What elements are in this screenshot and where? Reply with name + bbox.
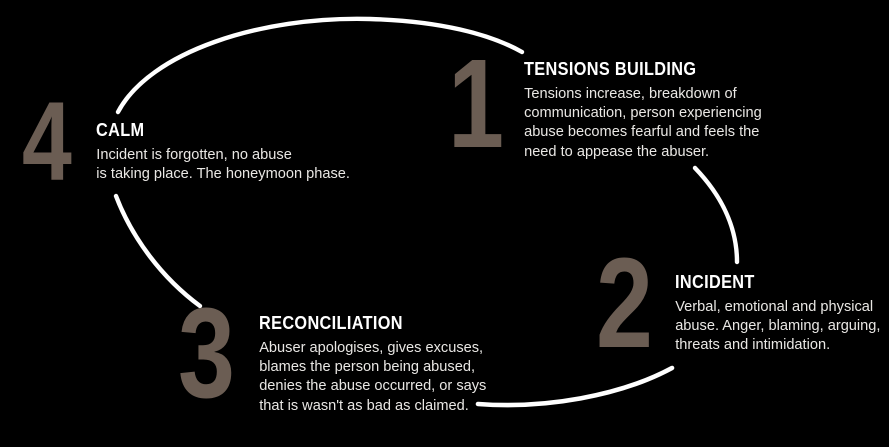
stage-body-incident: Verbal, emotional and physical abuse. An…: [675, 298, 880, 356]
stage-title-calm: CALM: [96, 121, 319, 140]
stage-incident: 2 INCIDENT Verbal, emotional and physica…: [596, 252, 880, 357]
stage-title-incident: INCIDENT: [675, 273, 856, 292]
stage-text-1: TENSIONS BUILDING Tensions increase, bre…: [524, 52, 762, 162]
stage-body-reconciliation: Abuser apologises, gives excuses, blames…: [259, 339, 486, 417]
stage-text-4: CALM Incident is forgotten, no abuse is …: [96, 96, 350, 184]
stage-text-2: INCIDENT Verbal, emotional and physical …: [675, 252, 880, 356]
stage-number-4: 4: [22, 96, 70, 188]
cycle-of-abuse-diagram: 1 TENSIONS BUILDING Tensions increase, b…: [0, 0, 889, 447]
stage-number-1: 1: [448, 52, 502, 155]
stage-body-calm: Incident is forgotten, no abuse is takin…: [96, 146, 350, 185]
stage-number-2: 2: [596, 252, 651, 357]
stage-body-tensions-building: Tensions increase, breakdown of communic…: [524, 85, 762, 163]
stage-reconciliation: 3 RECONCILIATION Abuser apologises, give…: [178, 302, 486, 416]
stage-number-3: 3: [178, 302, 233, 407]
stage-title-reconciliation: RECONCILIATION: [259, 314, 459, 333]
stage-tensions-building: 1 TENSIONS BUILDING Tensions increase, b…: [448, 52, 762, 162]
arc-1-to-2: [695, 168, 737, 262]
stage-calm: 4 CALM Incident is forgotten, no abuse i…: [22, 96, 350, 188]
stage-title-tensions-building: TENSIONS BUILDING: [524, 60, 733, 79]
stage-text-3: RECONCILIATION Abuser apologises, gives …: [259, 302, 486, 416]
